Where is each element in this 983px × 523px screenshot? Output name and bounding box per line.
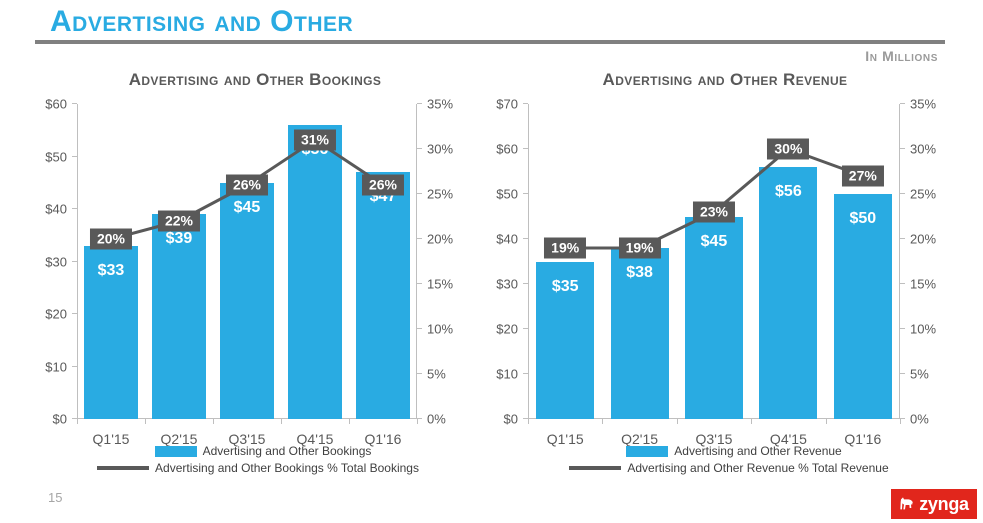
legend-bar-swatch-icon — [155, 446, 197, 457]
zynga-logo-text: zynga — [919, 495, 969, 513]
legend-line-swatch-icon — [569, 466, 621, 470]
x-axis-tick — [77, 419, 78, 424]
y-axis-tick-right — [417, 193, 422, 194]
y-axis-label-right: 10% — [910, 322, 936, 337]
legend-line-swatch-icon — [97, 466, 149, 470]
y-axis-label-left: $70 — [496, 97, 518, 112]
y-axis-label-right: 15% — [910, 277, 936, 292]
y-axis-tick-right — [417, 103, 422, 104]
y-axis-label-right: 35% — [910, 97, 936, 112]
y-axis-tick-right — [417, 283, 422, 284]
x-axis-tick — [602, 419, 603, 424]
y-axis-label-right: 35% — [427, 97, 453, 112]
y-axis-tick-right — [900, 283, 905, 284]
y-axis-label-right: 5% — [910, 367, 929, 382]
slide: Advertising and Other In Millions Advert… — [0, 0, 983, 523]
legend-item-bar[interactable]: Advertising and Other Bookings — [33, 444, 475, 458]
chart-panel-revenue: Advertising and Other Revenue $0$10$20$3… — [480, 62, 960, 482]
chart-panel-bookings: Advertising and Other Bookings $0$10$20$… — [15, 62, 475, 482]
percent-label: 30% — [767, 139, 809, 160]
x-axis-tick — [349, 419, 350, 424]
y-axis-tick-right — [417, 328, 422, 329]
x-axis-tick — [213, 419, 214, 424]
legend-bookings: Advertising and Other Bookings Advertisi… — [15, 444, 475, 478]
legend-label-bar: Advertising and Other Revenue — [674, 444, 841, 458]
x-axis-tick — [528, 419, 529, 424]
y-axis-tick-right — [900, 328, 905, 329]
legend-revenue: Advertising and Other Revenue Advertisin… — [480, 444, 960, 478]
legend-label-line: Advertising and Other Bookings % Total B… — [155, 461, 419, 475]
legend-bar-swatch-icon — [626, 446, 668, 457]
y-axis-label-left: $20 — [496, 322, 518, 337]
percent-label: 26% — [226, 174, 268, 195]
y-axis-label-left: $60 — [45, 97, 67, 112]
y-axis-label-left: $50 — [45, 149, 67, 164]
percent-label: 20% — [90, 229, 132, 250]
x-axis-tick — [826, 419, 827, 424]
plot-area-bookings: $0$10$20$30$40$50$600%5%10%15%20%25%30%3… — [77, 104, 417, 419]
y-axis-tick-right — [900, 238, 905, 239]
y-axis-label-right: 30% — [427, 142, 453, 157]
y-axis-label-left: $0 — [504, 412, 518, 427]
y-axis-label-left: $60 — [496, 142, 518, 157]
y-axis-label-left: $40 — [496, 232, 518, 247]
x-axis-tick — [417, 419, 418, 424]
x-axis-tick — [145, 419, 146, 424]
y-axis-label-left: $0 — [53, 412, 67, 427]
y-axis-label-left: $30 — [45, 254, 67, 269]
y-axis-label-right: 25% — [910, 187, 936, 202]
chart-title-revenue: Advertising and Other Revenue — [480, 70, 960, 90]
y-axis-label-left: $10 — [45, 359, 67, 374]
zynga-logo: zynga — [891, 489, 977, 519]
x-axis-tick — [900, 419, 901, 424]
y-axis-label-right: 25% — [427, 187, 453, 202]
legend-item-line[interactable]: Advertising and Other Revenue % Total Re… — [490, 461, 960, 475]
x-axis-tick — [281, 419, 282, 424]
x-axis-tick — [677, 419, 678, 424]
percent-label: 19% — [544, 238, 586, 259]
legend-item-line[interactable]: Advertising and Other Bookings % Total B… — [33, 461, 475, 475]
y-axis-label-right: 30% — [910, 142, 936, 157]
chart-title-bookings: Advertising and Other Bookings — [15, 70, 475, 90]
y-axis-label-left: $20 — [45, 307, 67, 322]
percent-label: 19% — [619, 238, 661, 259]
y-axis-tick-right — [900, 103, 905, 104]
legend-label-line: Advertising and Other Revenue % Total Re… — [627, 461, 888, 475]
plot-area-revenue: $0$10$20$30$40$50$60$700%5%10%15%20%25%3… — [528, 104, 900, 419]
y-axis-label-left: $30 — [496, 277, 518, 292]
y-axis-label-right: 0% — [427, 412, 446, 427]
percent-label: 22% — [158, 211, 200, 232]
percent-label: 23% — [693, 202, 735, 223]
title-divider — [35, 40, 945, 44]
y-axis-label-right: 20% — [427, 232, 453, 247]
y-axis-label-right: 15% — [427, 277, 453, 292]
y-axis-tick-right — [417, 148, 422, 149]
y-axis-label-left: $10 — [496, 367, 518, 382]
y-axis-label-left: $50 — [496, 187, 518, 202]
percent-label: 31% — [294, 130, 336, 151]
trend-line-bookings — [77, 104, 417, 419]
percent-label: 27% — [842, 166, 884, 187]
legend-item-bar[interactable]: Advertising and Other Revenue — [490, 444, 960, 458]
page-number: 15 — [48, 490, 62, 505]
y-axis-tick-right — [417, 238, 422, 239]
y-axis-tick-right — [417, 373, 422, 374]
page-title: Advertising and Other — [50, 5, 353, 39]
dog-icon — [899, 496, 915, 512]
y-axis-label-left: $40 — [45, 202, 67, 217]
y-axis-tick-right — [900, 193, 905, 194]
y-axis-label-right: 0% — [910, 412, 929, 427]
y-axis-label-right: 20% — [910, 232, 936, 247]
percent-label: 26% — [362, 174, 404, 195]
y-axis-label-right: 10% — [427, 322, 453, 337]
trend-line-revenue — [528, 104, 900, 419]
x-axis-tick — [751, 419, 752, 424]
legend-label-bar: Advertising and Other Bookings — [203, 444, 372, 458]
y-axis-tick-right — [900, 373, 905, 374]
y-axis-tick-right — [900, 148, 905, 149]
y-axis-label-right: 5% — [427, 367, 446, 382]
